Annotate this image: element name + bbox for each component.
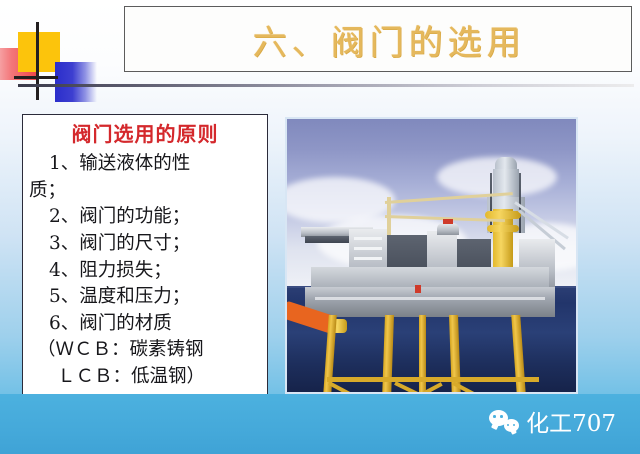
photo-red-marker (443, 219, 453, 224)
list-item: 2、阀门的功能； (29, 204, 261, 231)
photo-upper-deck (311, 267, 549, 289)
photo-window-row (354, 237, 382, 240)
photo-main-deck (305, 287, 555, 317)
photo-derrick-strut (490, 173, 492, 233)
principles-list: 1、输送液体的性 质； 2、阀门的功能； 3、阀门的尺寸； 4、阻力损失； 5、… (29, 151, 261, 391)
list-item: （ＷＣＢ：碳素铸钢 (29, 337, 261, 364)
decor-blue-gradient-square (55, 62, 97, 102)
photo-jacket-leg (419, 315, 426, 394)
offshore-oil-platform-photo (285, 117, 578, 394)
list-item: 3、阀门的尺寸； (29, 231, 261, 258)
list-item: 质； (29, 178, 261, 205)
photo-jacket-brace (327, 377, 539, 382)
list-item: ＬＣＢ：低温钢） (29, 364, 261, 391)
principles-text-panel: 阀门选用的原则 1、输送液体的性 质； 2、阀门的功能； 3、阀门的尺寸； 4、… (22, 114, 268, 424)
photo-module-dome (437, 223, 459, 235)
slide-canvas: 六、阀门的选用 阀门选用的原则 1、输送液体的性 质； 2、阀门的功能； 3、阀… (0, 0, 640, 454)
list-item: 4、阻力损失； (29, 258, 261, 285)
panel-heading: 阀门选用的原则 (29, 123, 261, 145)
decor-gradient-rule (18, 84, 634, 87)
list-item: 6、阀门的材质 (29, 311, 261, 338)
slide-title-box: 六、阀门的选用 (124, 6, 632, 72)
list-item: 1、输送液体的性 (29, 151, 261, 178)
page-title: 六、阀门的选用 (231, 15, 526, 64)
watermark: 化工707 (489, 404, 616, 438)
watermark-label: 化工707 (526, 404, 616, 438)
photo-window-row (354, 257, 382, 260)
decor-vertical-bar (36, 22, 39, 100)
photo-deck-railing (315, 297, 545, 300)
wechat-icon (489, 410, 519, 432)
photo-worker-figure (415, 285, 421, 293)
list-item: 5、温度和压力； (29, 284, 261, 311)
decor-yellow-square (18, 32, 60, 72)
photo-window-row (354, 247, 382, 250)
photo-yellow-mast-collar (487, 225, 519, 232)
